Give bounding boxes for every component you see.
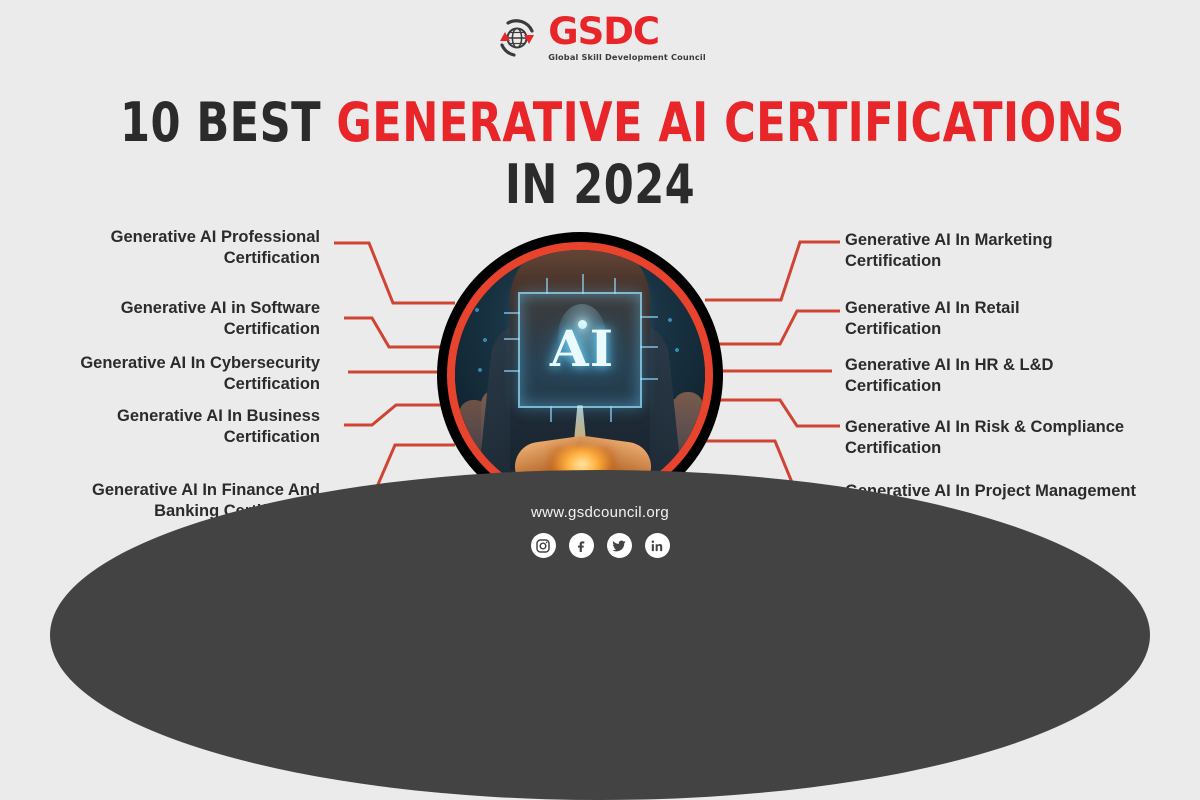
connector-left-1 (334, 243, 455, 303)
social-links-row (50, 533, 1150, 558)
footer-website-url[interactable]: www.gsdcouncil.org (50, 504, 1150, 521)
label-right-4[interactable]: Generative AI In Risk & Compliance Certi… (845, 417, 1195, 459)
label-right-1[interactable]: Generative AI In Marketing Certification (845, 230, 1185, 272)
connector-right-1 (705, 242, 840, 300)
label-left-4[interactable]: Generative AI In Business Certification (30, 406, 320, 448)
linkedin-icon[interactable] (645, 533, 670, 558)
label-right-2[interactable]: Generative AI In Retail Certification (845, 298, 1185, 340)
twitter-icon[interactable] (607, 533, 632, 558)
instagram-icon[interactable] (531, 533, 556, 558)
ai-circuit-square-icon: AI (518, 292, 642, 408)
label-right-3[interactable]: Generative AI In HR & L&D Certification (845, 355, 1185, 397)
label-left-2[interactable]: Generative AI in Software Certification (30, 298, 320, 340)
label-left-3[interactable]: Generative AI In Cybersecurity Certifica… (20, 353, 320, 395)
hands-holding-ai-hologram-image: AI (455, 250, 705, 500)
footer-banner: www.gsdcouncil.org (50, 470, 1150, 800)
red-ring: AI (447, 242, 713, 508)
facebook-icon[interactable] (569, 533, 594, 558)
connector-right-4 (712, 400, 840, 426)
hologram-label: AI (520, 324, 644, 374)
connector-right-2 (712, 311, 840, 344)
label-left-1[interactable]: Generative AI Professional Certification (30, 227, 320, 269)
